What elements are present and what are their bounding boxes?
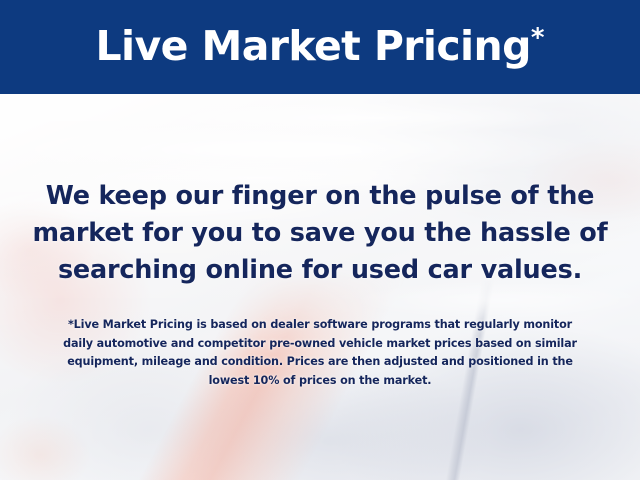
disclaimer-line-3: equipment, mileage and condition. Prices…: [0, 353, 640, 372]
content-area: We keep our finger on the pulse of the m…: [0, 94, 640, 480]
headline: We keep our finger on the pulse of the m…: [0, 178, 640, 289]
header-band: Live Market Pricing*: [0, 0, 640, 94]
disclaimer-line-1: *Live Market Pricing is based on dealer …: [0, 316, 640, 335]
footnote-marker-icon: *: [531, 23, 545, 53]
headline-line-2: market for you to save you the hassle of: [0, 215, 640, 252]
page-title-text: Live Market Pricing: [96, 22, 531, 70]
live-market-pricing-banner: Live Market Pricing* We keep our finger …: [0, 0, 640, 480]
disclaimer: *Live Market Pricing is based on dealer …: [0, 316, 640, 390]
headline-line-1: We keep our finger on the pulse of the: [0, 178, 640, 215]
disclaimer-line-2: daily automotive and competitor pre-owne…: [0, 335, 640, 354]
disclaimer-line-4: lowest 10% of prices on the market.: [0, 372, 640, 391]
headline-line-3: searching online for used car values.: [0, 252, 640, 289]
page-title: Live Market Pricing*: [96, 25, 545, 69]
